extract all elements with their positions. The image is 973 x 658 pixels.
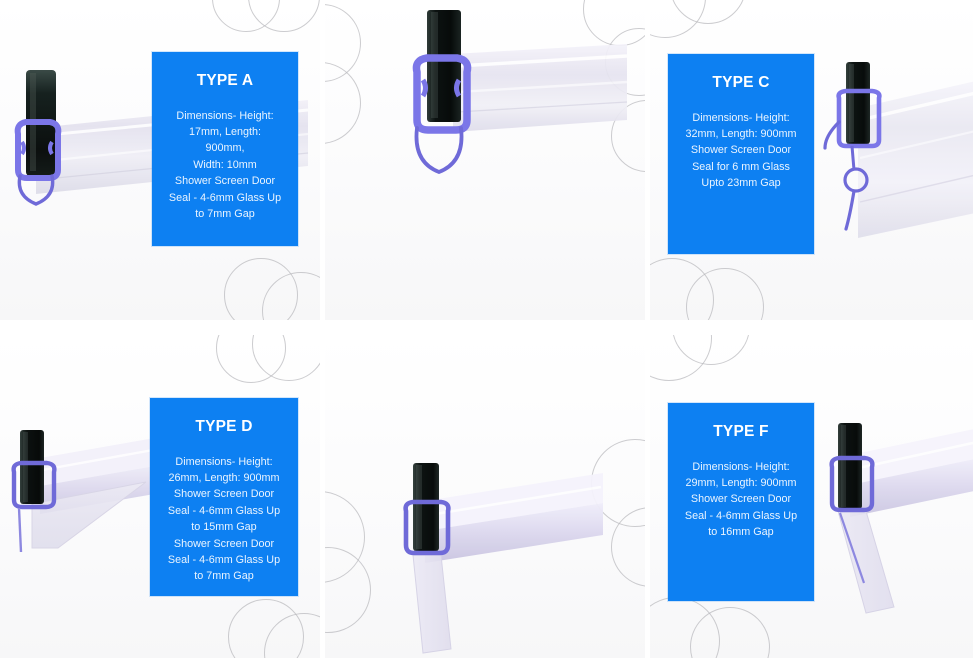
panel-type-b[interactable]: TYPE B Dimensions- Height: 17mm, Length:… xyxy=(325,0,645,320)
card-title: TYPE D xyxy=(160,418,288,437)
info-card-type-f[interactable]: TYPE F Dimensions- Height: 29mm, Length:… xyxy=(668,403,814,601)
grid-gap xyxy=(0,320,973,335)
panel-type-a[interactable]: TYPE A Dimensions- Height: 17mm, Length:… xyxy=(0,0,320,320)
product-image-type-f xyxy=(824,423,973,623)
product-image-type-b xyxy=(397,10,627,180)
card-body: Dimensions- Height: 17mm, Length: 900mm,… xyxy=(162,108,288,223)
panel-type-d[interactable]: TYPE D Dimensions- Height: 26mm, Length:… xyxy=(0,335,320,658)
card-title: TYPE C xyxy=(678,74,804,93)
seal-types-grid: TYPE A Dimensions- Height: 17mm, Length:… xyxy=(0,0,973,658)
info-card-type-d[interactable]: TYPE D Dimensions- Height: 26mm, Length:… xyxy=(150,398,298,596)
card-body: Dimensions- Height: 32mm, Length: 900mm … xyxy=(678,110,804,192)
panel-type-c[interactable]: TYPE C Dimensions- Height: 32mm, Length:… xyxy=(650,0,973,320)
product-image-type-e xyxy=(395,463,635,653)
panel-type-e[interactable]: TYPE E Dimensions- Height: 31mm, Length:… xyxy=(325,335,645,658)
card-body: Dimensions- Height: 29mm, Length: 900mm … xyxy=(678,459,804,541)
product-image-type-c xyxy=(830,62,973,252)
info-card-type-a[interactable]: TYPE A Dimensions- Height: 17mm, Length:… xyxy=(152,52,298,246)
card-body: Dimensions- Height: 26mm, Length: 900mm … xyxy=(160,454,288,585)
card-title: TYPE F xyxy=(678,423,804,442)
card-title: TYPE A xyxy=(162,72,288,91)
info-card-type-c[interactable]: TYPE C Dimensions- Height: 32mm, Length:… xyxy=(668,54,814,254)
panel-type-f[interactable]: TYPE F Dimensions- Height: 29mm, Length:… xyxy=(650,335,973,658)
